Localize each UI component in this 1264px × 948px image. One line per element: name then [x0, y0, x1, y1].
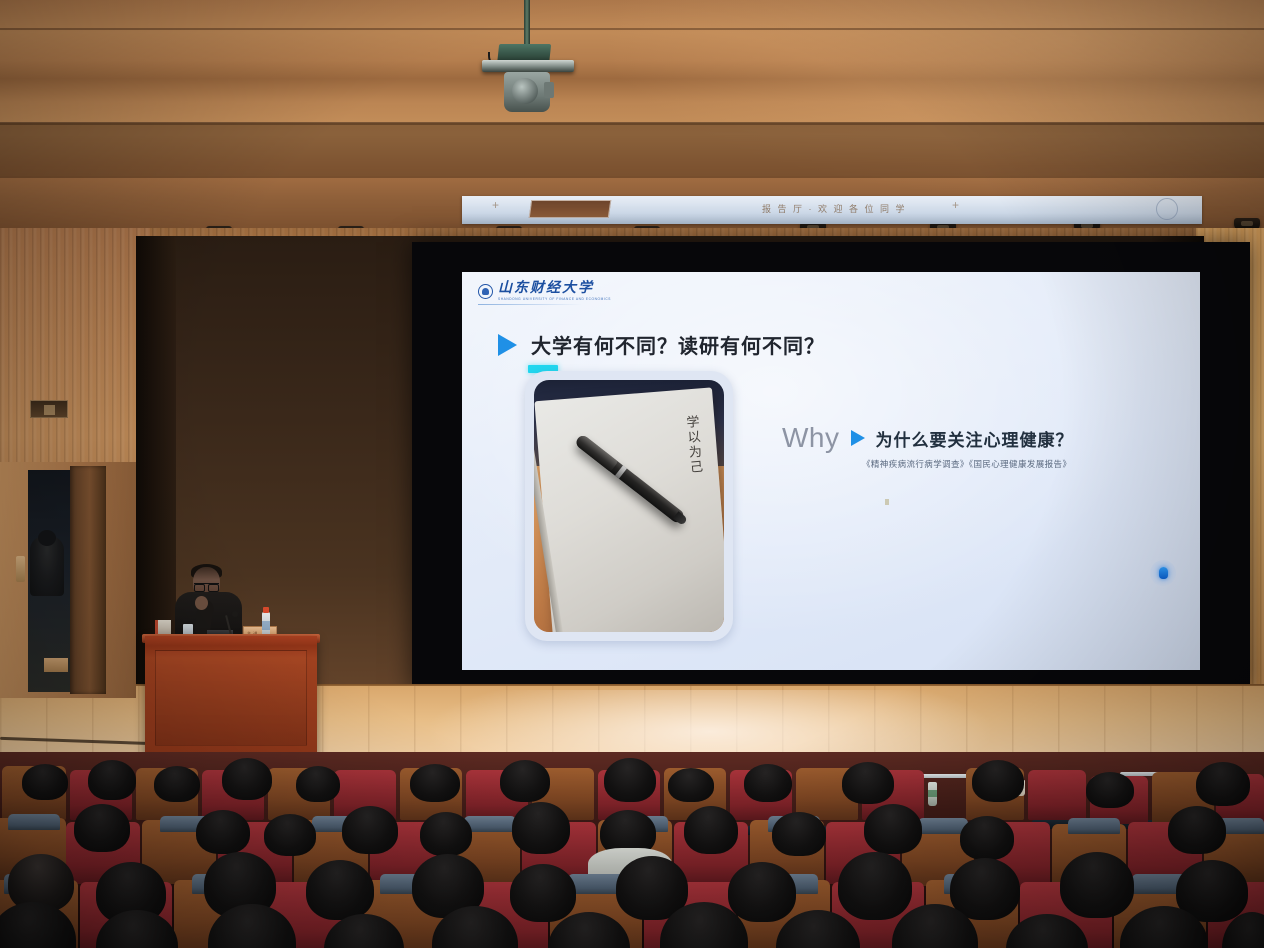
notebook-cover: 学以为己	[534, 387, 724, 632]
audience-head	[772, 812, 826, 856]
ceiling-seam	[0, 28, 1264, 30]
seat	[1028, 770, 1086, 820]
audience-head	[306, 860, 374, 920]
seat-headrest	[1068, 818, 1120, 834]
why-block: Why 为什么要关注心理健康？ 《精神疾病流行病学调查》《国民心理健康发展报告》	[782, 424, 1074, 470]
audience-head	[1196, 762, 1250, 806]
audience-head	[1060, 852, 1134, 918]
audience-head	[512, 802, 570, 854]
hall-banner: + + 报 告 厅 · 欢 迎 各 位 同 学	[462, 196, 1202, 224]
box-on-floor	[44, 658, 68, 672]
projector-plate	[482, 60, 574, 72]
audience-head	[864, 804, 922, 854]
water-bottle	[928, 782, 937, 806]
slide-title-row: 大学有何不同？读研有何不同？	[498, 330, 825, 359]
audience-head	[296, 766, 340, 802]
logo-institution-cn: 山东财经大学	[498, 282, 611, 296]
why-sources: 《精神疾病流行病学调查》《国民心理健康发展报告》	[862, 458, 1074, 470]
banner-marker-icon: +	[952, 198, 959, 212]
projector-knob	[544, 82, 554, 98]
ceiling-seam	[0, 176, 1264, 178]
eyeglasses-icon	[194, 583, 219, 589]
projector-mount-rod	[524, 0, 530, 48]
audience-head	[154, 766, 200, 802]
person-head	[38, 530, 56, 546]
seat-headrest	[464, 816, 516, 832]
audience-head	[342, 806, 398, 854]
audience-seating	[0, 752, 1264, 948]
projector-lens-icon	[512, 78, 538, 104]
audience-head	[684, 806, 738, 854]
lecture-table	[145, 636, 317, 758]
ceiling-vent	[0, 122, 1264, 176]
university-crest-icon	[478, 284, 493, 299]
lecture-hall-scene: + + 报 告 厅 · 欢 迎 各 位 同 学 山东财经大学 SHANDONG …	[0, 0, 1264, 948]
audience-head	[604, 758, 656, 802]
audience-head	[410, 764, 460, 802]
why-row: Why 为什么要关注心理健康？	[782, 424, 1074, 452]
audience-head	[264, 814, 316, 856]
logo-underline	[478, 304, 582, 305]
institution-seal-icon	[1156, 198, 1178, 220]
microphone-head-icon	[232, 611, 238, 617]
audience-head	[744, 764, 792, 802]
audience-head	[1086, 772, 1134, 808]
audience-head	[728, 862, 796, 922]
podium-front-panel	[155, 650, 307, 746]
audience-head	[22, 764, 68, 800]
exit-sign	[30, 400, 68, 418]
why-question: 为什么要关注心理健康？	[876, 426, 1074, 451]
audience-head	[668, 768, 714, 802]
pen-ring	[615, 465, 627, 478]
audience-head	[88, 760, 136, 800]
slide-title: 大学有何不同？读研有何不同？	[531, 330, 825, 359]
banner-plate	[529, 200, 612, 218]
why-label: Why	[782, 424, 840, 452]
door-handle[interactable]	[16, 556, 25, 582]
audience-head	[838, 852, 912, 920]
logo-institution-en: SHANDONG UNIVERSITY OF FINANCE AND ECONO…	[498, 298, 611, 301]
banner-marker-icon: +	[492, 198, 499, 212]
audience-head	[510, 864, 576, 922]
slide-artifact-dot	[885, 499, 889, 505]
audience-head	[74, 804, 130, 852]
seat-headrest	[8, 814, 60, 830]
presentation-slide[interactable]: 山东财经大学 SHANDONG UNIVERSITY OF FINANCE AN…	[462, 272, 1200, 670]
slide-logo: 山东财经大学 SHANDONG UNIVERSITY OF FINANCE AN…	[478, 282, 611, 301]
audience-head	[960, 816, 1014, 860]
play-triangle-icon	[498, 334, 517, 356]
audience-head	[196, 810, 250, 854]
notebook-photo: 学以为己	[534, 380, 724, 632]
laser-pointer-dot	[1150, 560, 1176, 586]
play-triangle-icon	[851, 430, 865, 446]
audience-head	[842, 762, 894, 804]
notebook-handwriting: 学以为己	[683, 415, 703, 476]
audience-head	[1168, 806, 1226, 854]
audience-head	[222, 758, 272, 800]
slide-photo-card: 学以为己	[525, 371, 733, 641]
audience-head	[500, 760, 550, 802]
audience-head	[420, 812, 472, 856]
speaker-hand	[195, 596, 208, 610]
door-leaf[interactable]	[70, 466, 106, 694]
audience-head	[972, 760, 1024, 802]
banner-text: 报 告 厅 · 欢 迎 各 位 同 学	[762, 202, 907, 215]
